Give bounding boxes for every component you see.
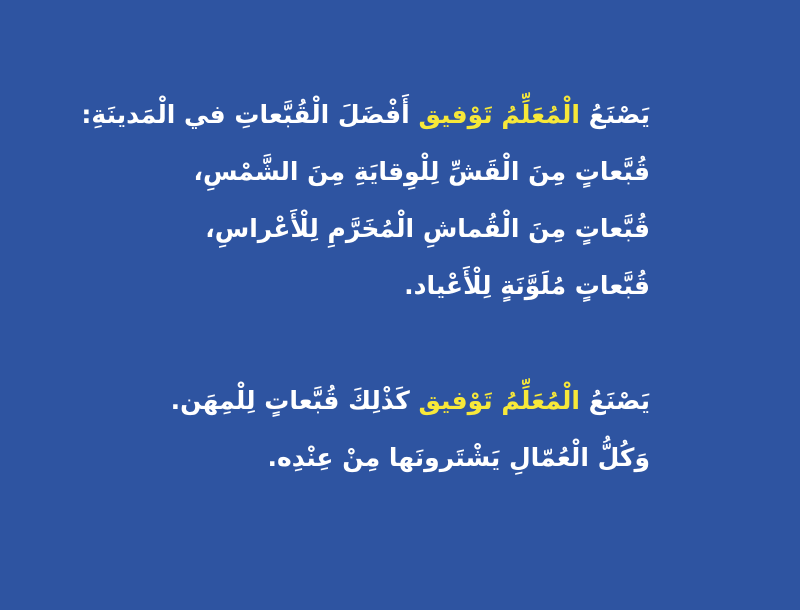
- text-line-4: قُبَّعاتٍ مُلَوَّنَةٍ لِلْأَعْياد.: [404, 257, 650, 314]
- line-5-segment-plain-end: كَذْلِكَ قُبَّعاتٍ لِلْمِهَن.: [171, 386, 419, 415]
- line-1-segment-plain-start: يَصْنَعُ: [580, 100, 650, 129]
- paragraph-2: يَصْنَعُ الْمُعَلِّمُ تَوْفيق كَذْلِكَ ق…: [60, 372, 650, 486]
- text-line-1: يَصْنَعُ الْمُعَلِّمُ تَوْفيق أَفْضَلَ ا…: [81, 86, 650, 143]
- paragraph-1: يَصْنَعُ الْمُعَلِّمُ تَوْفيق أَفْضَلَ ا…: [60, 86, 650, 314]
- paragraph-spacer: [60, 314, 650, 372]
- text-line-5: يَصْنَعُ الْمُعَلِّمُ تَوْفيق كَذْلِكَ ق…: [171, 372, 650, 429]
- line-5-segment-highlight: الْمُعَلِّمُ تَوْفيق: [418, 386, 580, 415]
- story-page: يَصْنَعُ الْمُعَلِّمُ تَوْفيق أَفْضَلَ ا…: [0, 0, 800, 610]
- line-1-segment-plain-end: أَفْضَلَ الْقُبَّعاتِ في الْمَدينَةِ:: [81, 100, 418, 129]
- text-line-6: وَكُلُّ الْعُمّالِ يَشْتَرونَها مِنْ عِن…: [268, 429, 650, 486]
- text-line-2: قُبَّعاتٍ مِنَ الْقَشِّ لِلْوِقايَةِ مِن…: [193, 143, 650, 200]
- line-2-segment-plain: قُبَّعاتٍ مِنَ الْقَشِّ لِلْوِقايَةِ مِن…: [193, 157, 650, 186]
- text-line-3: قُبَّعاتٍ مِنَ الْقُماشِ الْمُخَرَّمِ لِ…: [205, 200, 650, 257]
- line-5-segment-plain-start: يَصْنَعُ: [580, 386, 650, 415]
- line-3-segment-plain: قُبَّعاتٍ مِنَ الْقُماشِ الْمُخَرَّمِ لِ…: [205, 214, 650, 243]
- line-6-segment-plain: وَكُلُّ الْعُمّالِ يَشْتَرونَها مِنْ عِن…: [268, 443, 650, 472]
- line-1-segment-highlight: الْمُعَلِّمُ تَوْفيق: [418, 100, 580, 129]
- line-4-segment-plain: قُبَّعاتٍ مُلَوَّنَةٍ لِلْأَعْياد.: [404, 271, 650, 300]
